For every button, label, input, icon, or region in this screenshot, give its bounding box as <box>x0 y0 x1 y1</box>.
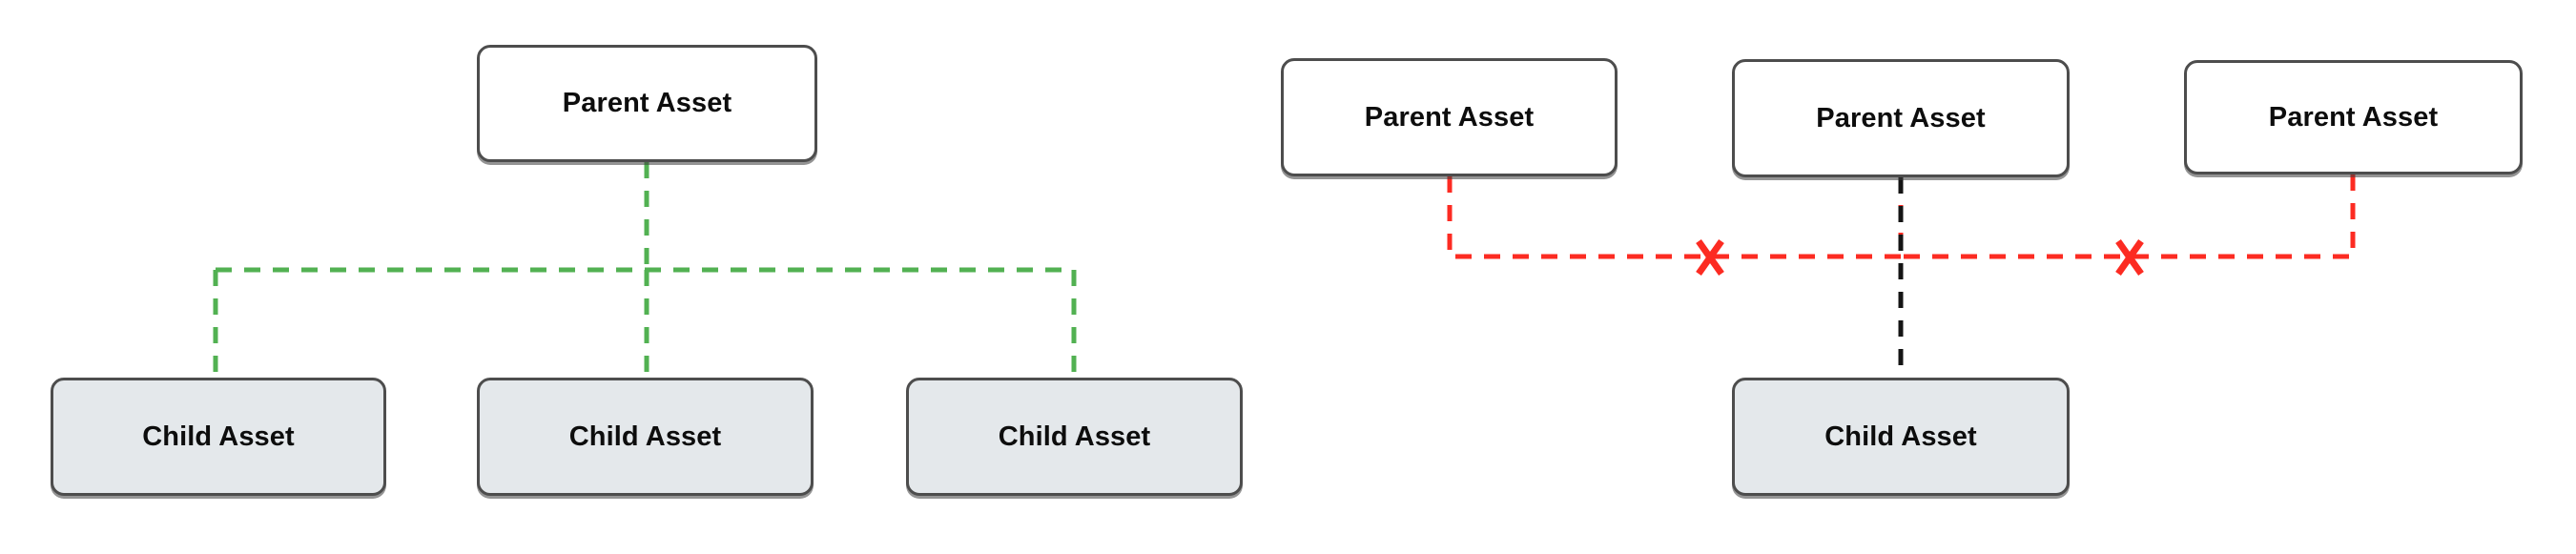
node-label: Child Asset <box>1824 423 1977 451</box>
node-child-asset[interactable]: Child Asset <box>1732 378 2070 496</box>
node-label: Parent Asset <box>1365 104 1534 132</box>
diagram-canvas: Parent Asset Child Asset Child Asset Chi… <box>0 0 2576 554</box>
node-parent-asset[interactable]: Parent Asset <box>1732 59 2070 177</box>
node-parent-asset[interactable]: Parent Asset <box>2184 60 2523 174</box>
invalid-hierarchy-group: Parent Asset Parent Asset Parent Asset C… <box>0 0 2576 554</box>
node-label: Parent Asset <box>2269 104 2438 132</box>
node-parent-asset[interactable]: Parent Asset <box>1281 58 1618 176</box>
node-label: Parent Asset <box>1816 105 1985 133</box>
